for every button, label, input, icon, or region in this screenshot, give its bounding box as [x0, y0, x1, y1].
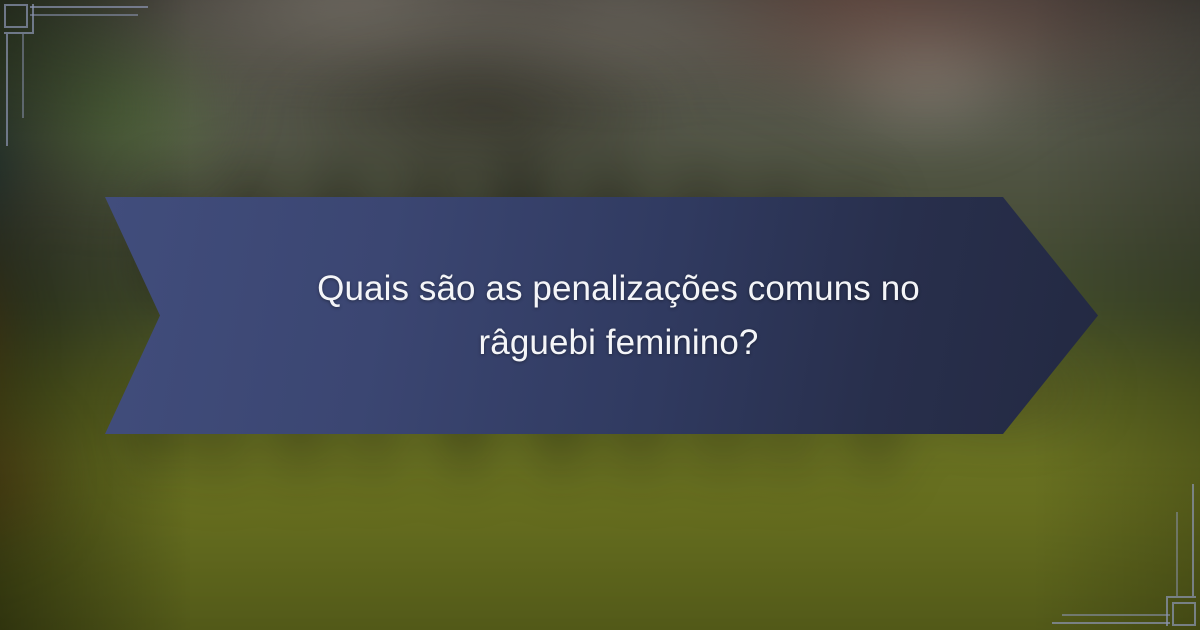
ornament-elbow-icon: [1166, 596, 1196, 626]
ornament-horizontal-line-2: [30, 14, 138, 16]
corner-ornament-top-left: [0, 0, 150, 150]
corner-ornament-bottom-right: [1050, 480, 1200, 630]
ornament-vertical-line-2: [1176, 512, 1178, 596]
ornament-horizontal-line-1: [30, 6, 148, 8]
ornament-elbow-icon: [4, 4, 34, 34]
headline-text: Quais são as penalizações comuns no râgu…: [232, 262, 972, 370]
headline-banner: Quais são as penalizações comuns no râgu…: [105, 197, 1098, 434]
social-card: Quais são as penalizações comuns no râgu…: [0, 0, 1200, 630]
ornament-vertical-line-2: [22, 34, 24, 118]
ornament-vertical-line-1: [6, 34, 8, 146]
ornament-vertical-line-1: [1192, 484, 1194, 596]
ornament-horizontal-line-1: [1052, 622, 1170, 624]
ornament-horizontal-line-2: [1062, 614, 1170, 616]
